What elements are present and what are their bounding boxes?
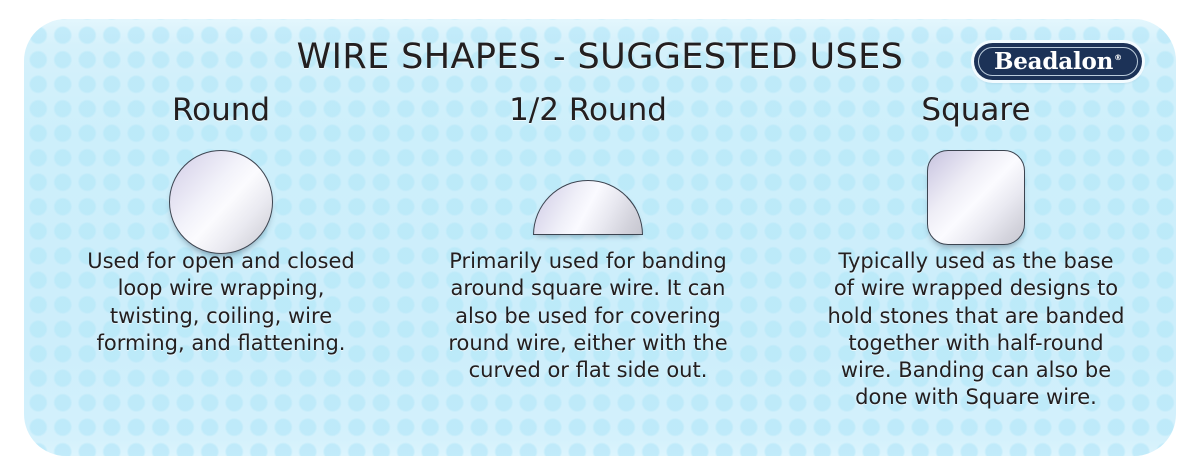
beadalon-logo: Beadalon® <box>974 43 1142 80</box>
shape-stage-square <box>776 126 1176 248</box>
square-shape-icon <box>927 150 1025 245</box>
shape-stage-half-round <box>400 126 776 248</box>
half-round-shape-icon <box>533 180 643 235</box>
panel-header: WIRE SHAPES - SUGGESTED USES Beadalon® <box>24 19 1176 91</box>
column-body-square: Typically used as the base of wire wrapp… <box>796 248 1156 412</box>
circle-shape-icon <box>169 150 273 254</box>
info-panel: WIRE SHAPES - SUGGESTED USES Beadalon® R… <box>24 19 1176 456</box>
column-body-half-round: Primarily used for banding around square… <box>423 248 753 384</box>
column-square: Square Typically used as the base of wir… <box>776 95 1176 412</box>
column-heading-square: Square <box>776 95 1176 126</box>
logo-wordmark: Beadalon® <box>994 50 1122 73</box>
column-round: Round Used for open and closed loop wire… <box>24 95 400 412</box>
column-heading-round: Round <box>42 95 400 126</box>
column-half-round: 1/2 Round Primarily used for banding aro… <box>400 95 776 412</box>
column-heading-half-round: 1/2 Round <box>400 95 776 126</box>
logo-wordmark-text: Beadalon <box>994 48 1113 75</box>
column-body-round: Used for open and closed loop wire wrapp… <box>56 248 386 357</box>
registered-trademark-icon: ® <box>1114 53 1122 62</box>
wire-shape-columns: Round Used for open and closed loop wire… <box>24 95 1176 412</box>
shape-stage-round <box>42 126 400 248</box>
page-root: WIRE SHAPES - SUGGESTED USES Beadalon® R… <box>0 0 1200 472</box>
